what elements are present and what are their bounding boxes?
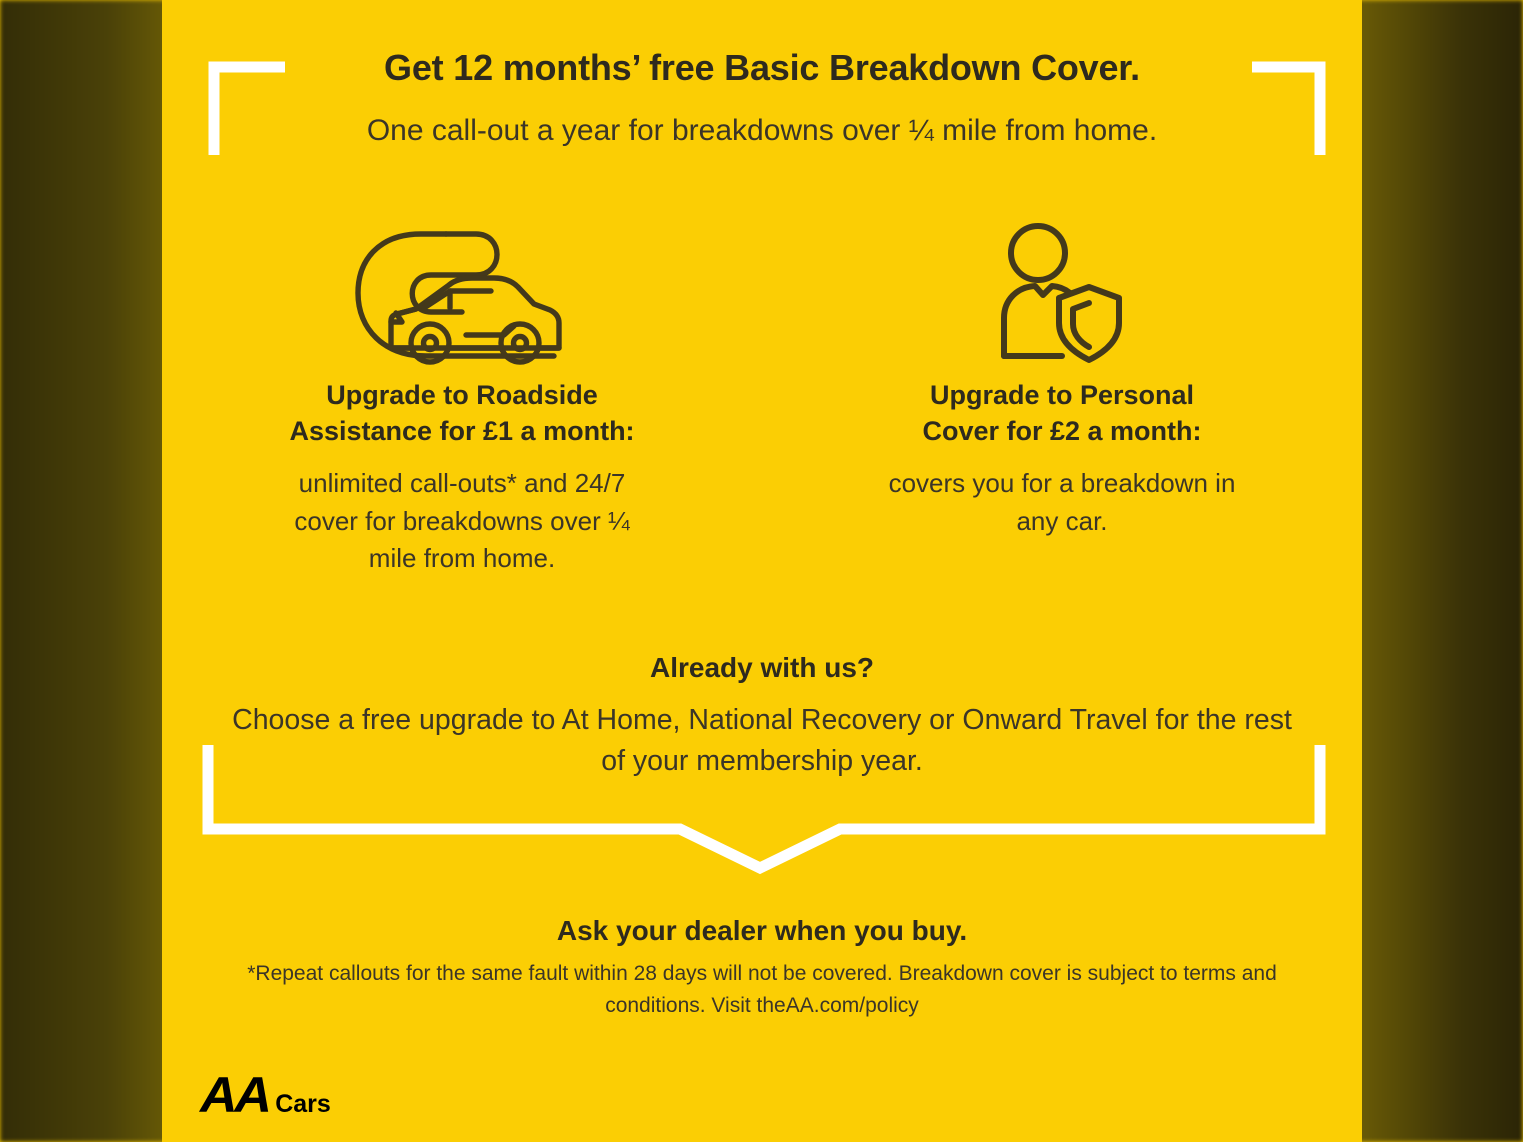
footer-call-to-action: Ask your dealer when you buy. [162, 915, 1362, 947]
aa-logo-wordmark: Cars [275, 1092, 331, 1117]
upgrade-card-personal: Upgrade to Personal Cover for £2 a month… [822, 212, 1302, 540]
person-shield-icon [822, 212, 1302, 372]
page-subtitle: One call-out a year for breakdowns over … [162, 113, 1362, 149]
upgrade-roadside-title: Upgrade to Roadside Assistance for £1 a … [222, 378, 702, 449]
car-on-road-icon [222, 212, 702, 372]
upgrade-card-roadside: Upgrade to Roadside Assistance for £1 a … [222, 212, 702, 578]
upgrade-roadside-body: unlimited call-outs* and 24/7 cover for … [222, 465, 702, 577]
aa-cars-logo: AA Cars [200, 1070, 331, 1120]
page-title: Get 12 months’ free Basic Breakdown Cove… [162, 48, 1362, 88]
content-panel: Get 12 months’ free Basic Breakdown Cove… [162, 0, 1362, 1142]
upgrade-personal-body: covers you for a breakdown in any car. [822, 465, 1302, 540]
poster-stage: Get 12 months’ free Basic Breakdown Cove… [0, 0, 1523, 1142]
already-with-us-body: Choose a free upgrade to At Home, Nation… [232, 700, 1292, 783]
footer-terms-text: *Repeat callouts for the same fault with… [222, 958, 1302, 1021]
already-with-us-title: Already with us? [162, 652, 1362, 684]
upgrade-personal-title: Upgrade to Personal Cover for £2 a month… [822, 378, 1302, 449]
aa-logo-mark: AA [200, 1070, 269, 1120]
upgrade-columns: Upgrade to Roadside Assistance for £1 a … [222, 212, 1302, 578]
